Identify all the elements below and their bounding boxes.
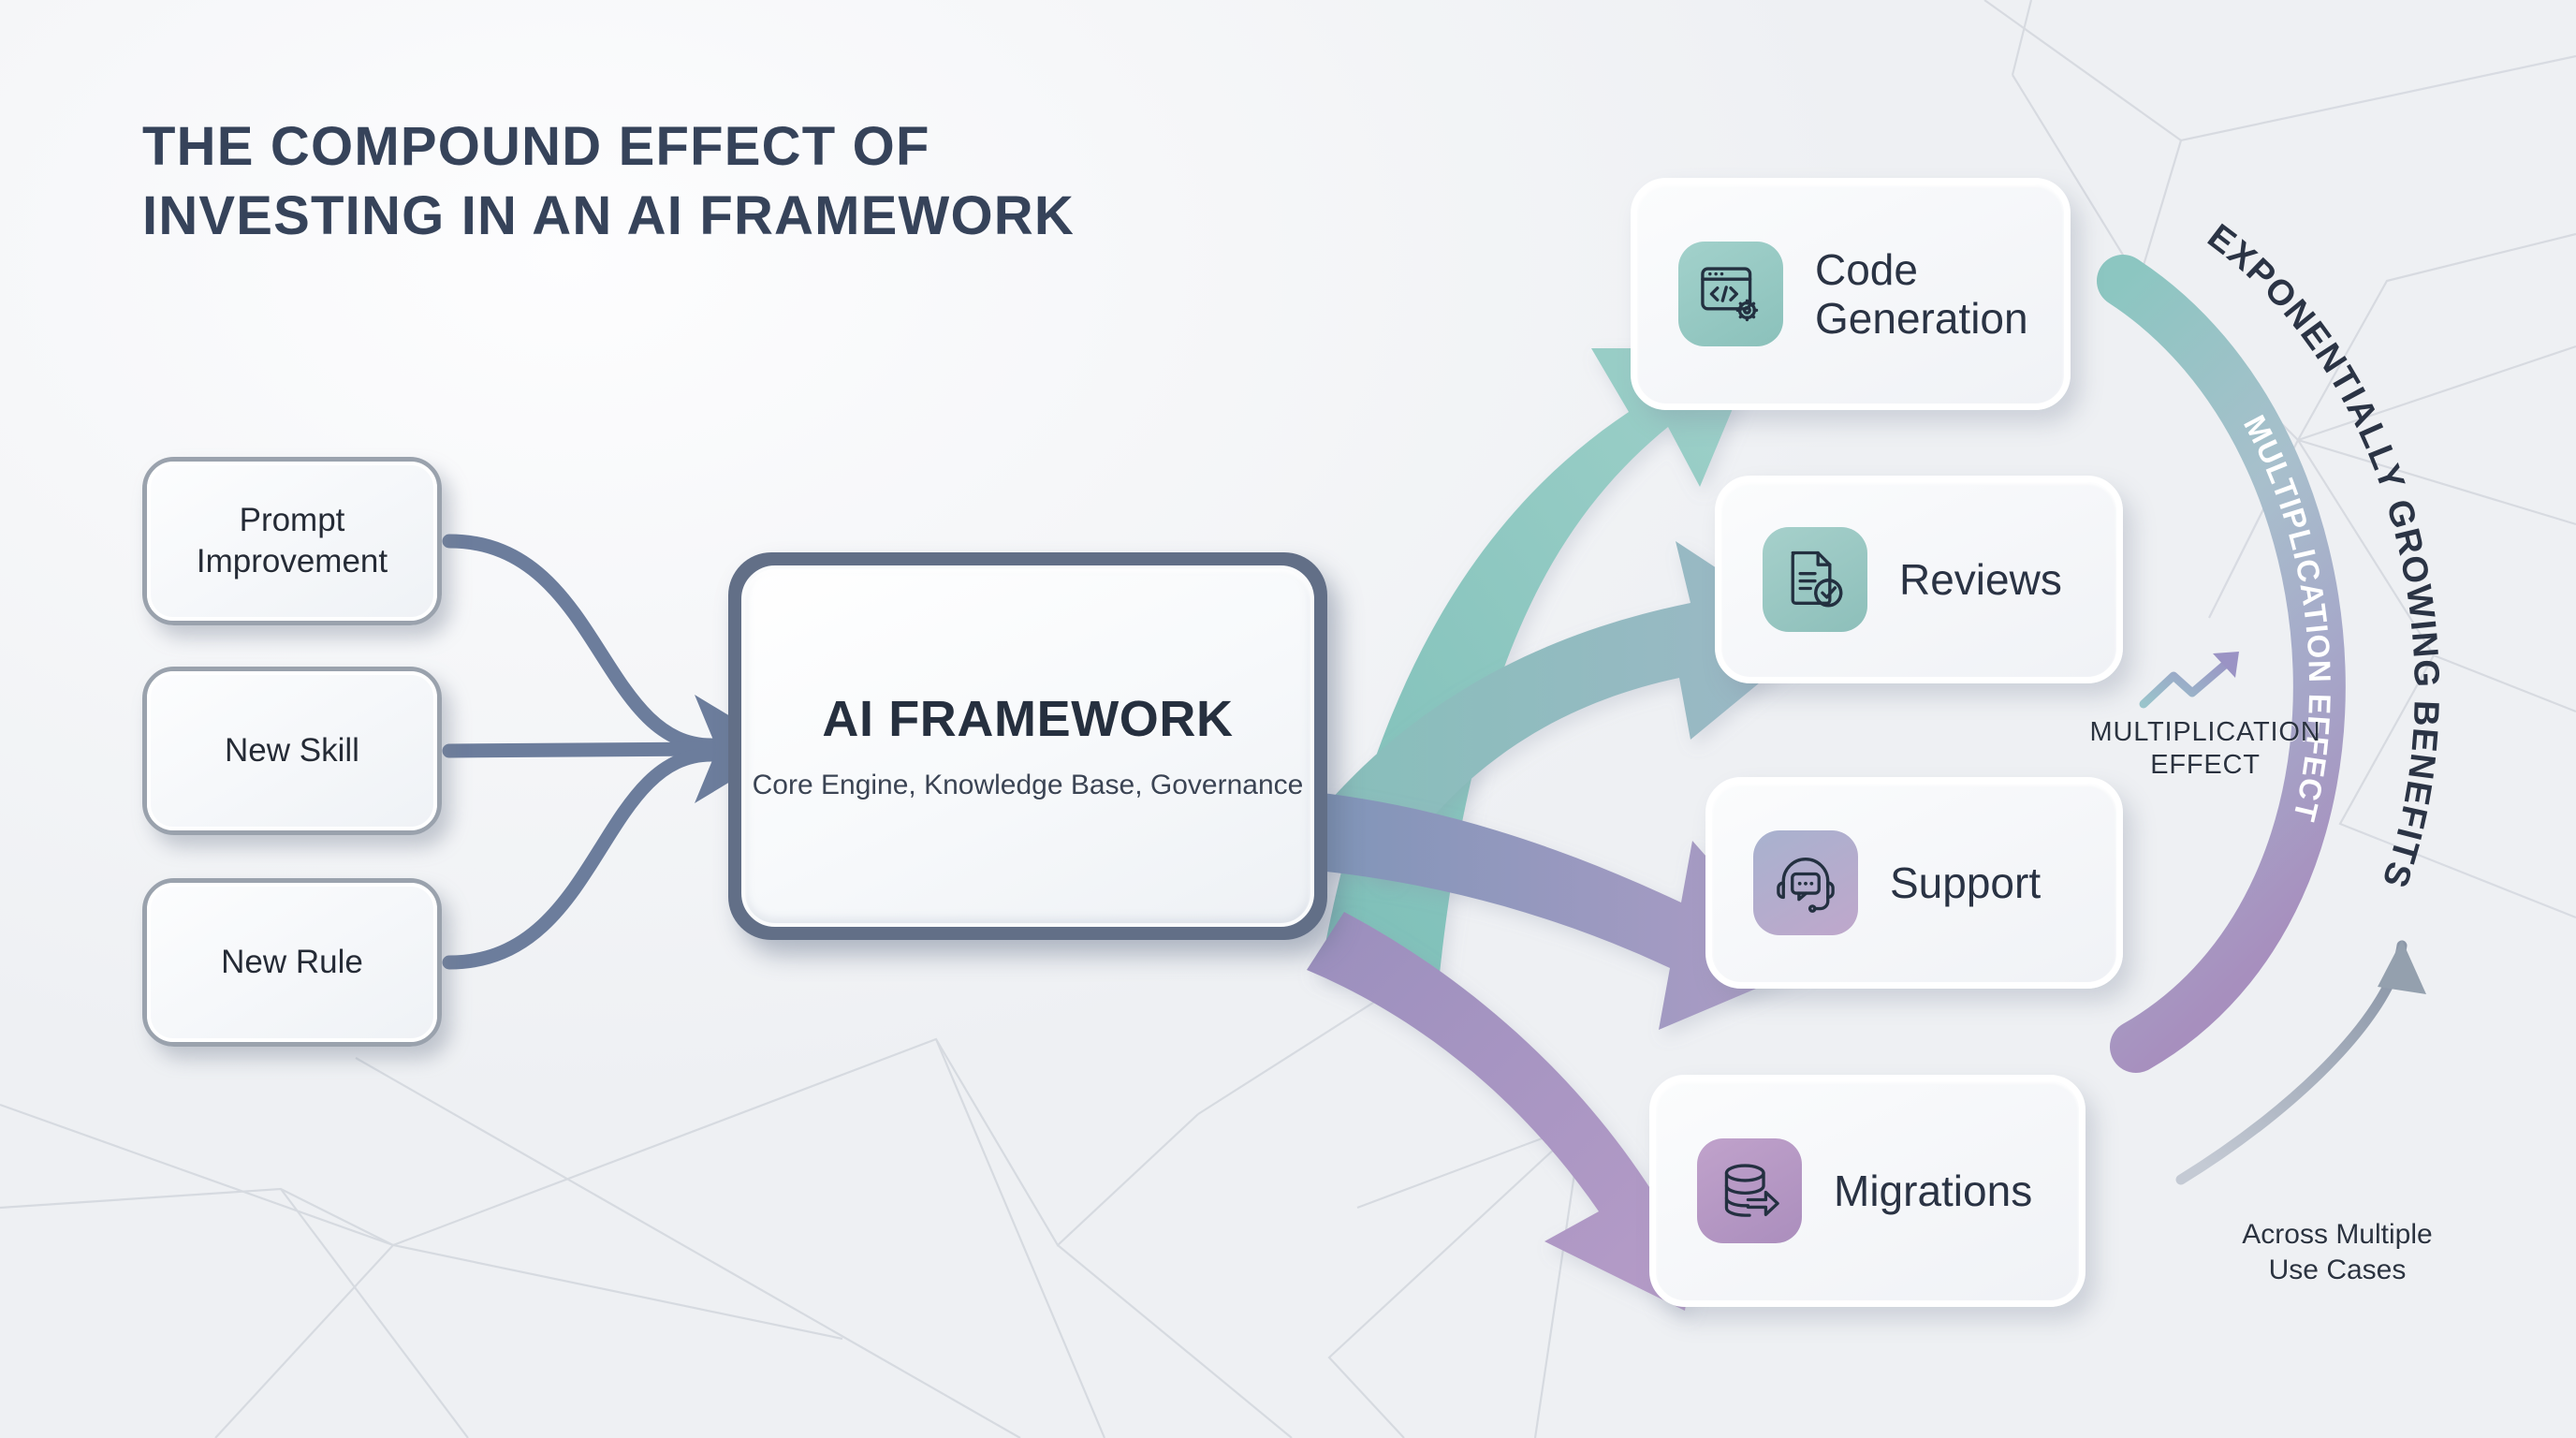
code-window-gear-icon bbox=[1678, 242, 1783, 346]
input-chip-prompt-improvement[interactable]: Prompt Improvement bbox=[142, 457, 442, 625]
chip-label: New Rule bbox=[221, 942, 363, 983]
arc-outer-label: EXPONENTIALLY GROWING BENEFITS bbox=[2201, 217, 2446, 894]
headset-chat-icon bbox=[1753, 830, 1858, 935]
chip-surface: New Rule bbox=[147, 883, 437, 1042]
outcome-card-code-generation[interactable]: Code Generation bbox=[1631, 178, 2071, 410]
outcome-card-migrations[interactable]: Migrations bbox=[1649, 1075, 2086, 1307]
title-line-1: THE COMPOUND EFFECT OF bbox=[142, 112, 1075, 182]
framework-surface: AI FRAMEWORK Core Engine, Knowledge Base… bbox=[741, 565, 1314, 927]
chip-label: Prompt Improvement bbox=[151, 500, 433, 582]
title-line-2: INVESTING IN AN AI FRAMEWORK bbox=[142, 182, 1075, 251]
outcome-label: Reviews bbox=[1899, 555, 2062, 604]
outcome-label: Migrations bbox=[1834, 1167, 2032, 1215]
across-line-1: Across Multiple bbox=[2202, 1217, 2473, 1253]
mult-line-2: EFFECT bbox=[2074, 749, 2336, 782]
mult-line-1: MULTIPLICATION bbox=[2074, 716, 2336, 749]
page-title: THE COMPOUND EFFECT OF INVESTING IN AN A… bbox=[142, 112, 1075, 251]
outcome-card-reviews[interactable]: Reviews bbox=[1715, 476, 2123, 683]
input-chip-new-rule[interactable]: New Rule bbox=[142, 878, 442, 1047]
trending-up-arrow-icon bbox=[2134, 646, 2284, 721]
input-chip-new-skill[interactable]: New Skill bbox=[142, 667, 442, 835]
outcome-label: Code Generation bbox=[1815, 245, 2028, 344]
chip-label: New Skill bbox=[225, 730, 359, 771]
document-check-icon bbox=[1763, 527, 1867, 632]
outcome-card-support[interactable]: Support bbox=[1705, 777, 2123, 989]
framework-title: AI FRAMEWORK bbox=[822, 690, 1233, 748]
infographic-canvas: EXPONENTIALLY GROWING BENEFITS MULTIPLIC… bbox=[0, 0, 2576, 1438]
outcome-label: Support bbox=[1890, 858, 2041, 907]
database-arrow-icon bbox=[1697, 1138, 1802, 1243]
chip-surface: New Skill bbox=[147, 671, 437, 830]
across-line-2: Use Cases bbox=[2202, 1253, 2473, 1288]
framework-subtitle: Core Engine, Knowledge Base, Governance bbox=[753, 767, 1304, 803]
across-use-cases-label: Across Multiple Use Cases bbox=[2202, 1217, 2473, 1289]
chip-surface: Prompt Improvement bbox=[147, 462, 437, 621]
ai-framework-box[interactable]: AI FRAMEWORK Core Engine, Knowledge Base… bbox=[728, 552, 1327, 940]
multiplication-effect-label: MULTIPLICATION EFFECT bbox=[2074, 716, 2336, 782]
